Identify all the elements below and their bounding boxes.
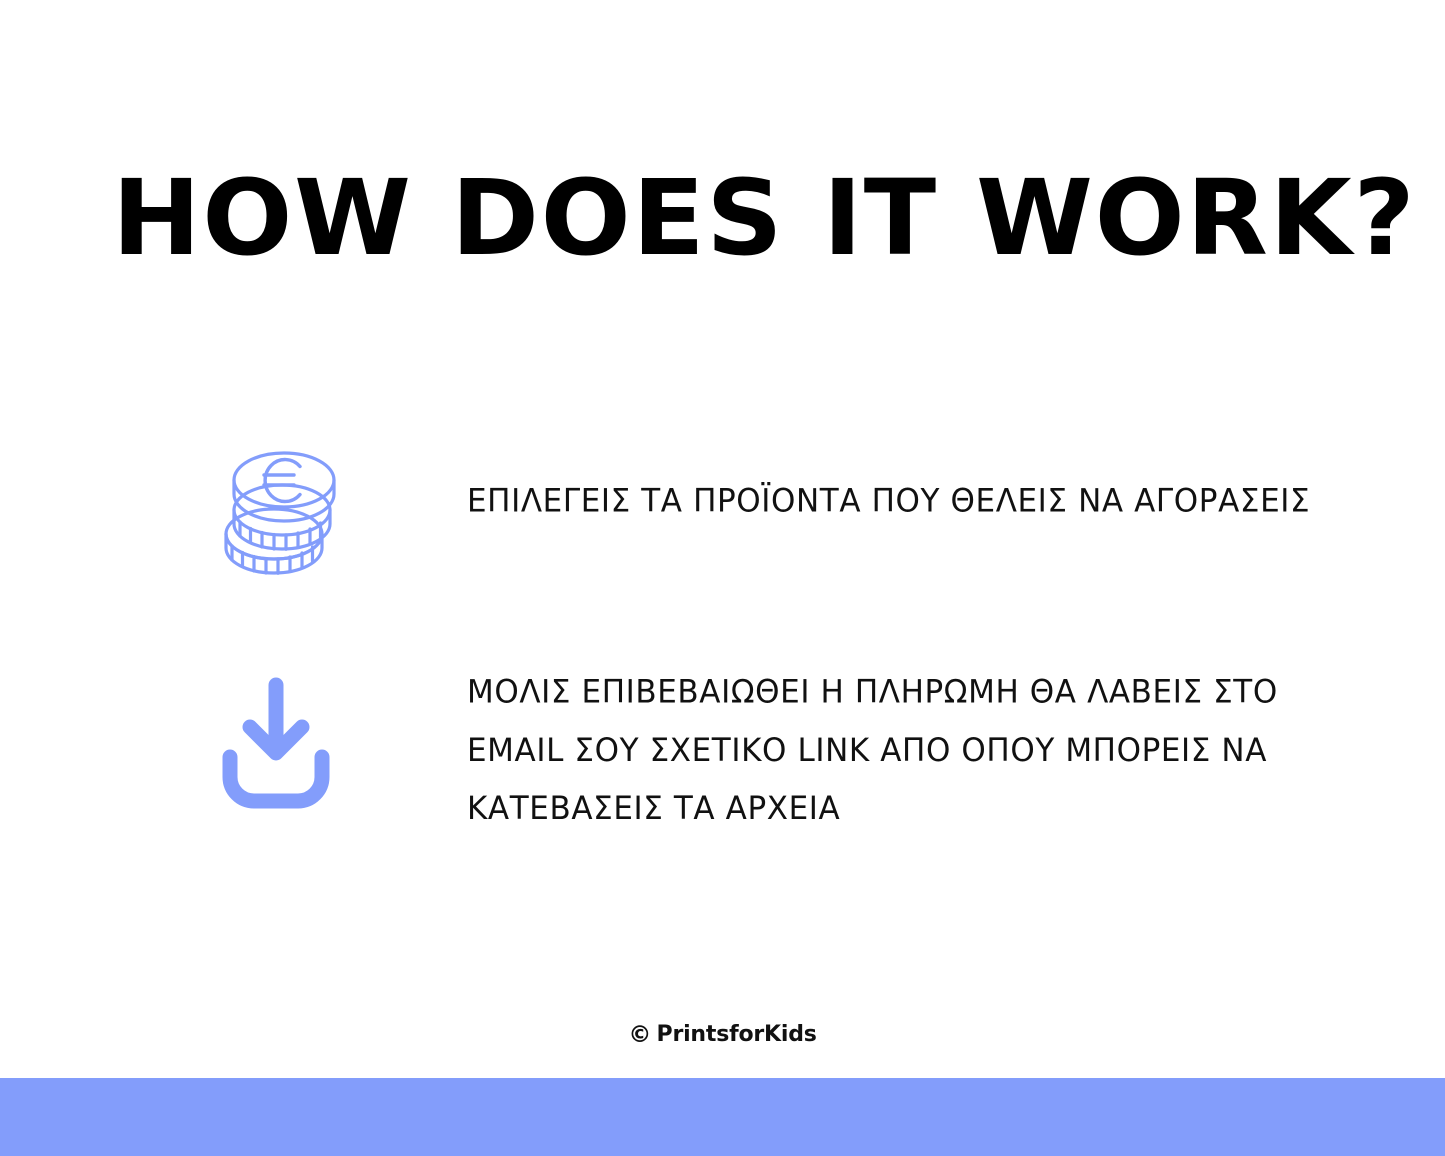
download-icon	[214, 665, 354, 825]
list-item-label: ΕΠΙΛΕΓΕΙΣ ΤΑ ΠΡΟΪΟΝΤΑ ΠΟΥ ΘΕΛΕΙΣ ΝΑ ΑΓΟΡ…	[467, 472, 1310, 530]
brand-name-second: forKids	[729, 1022, 817, 1047]
list-item: ΕΠΙΛΕΓΕΙΣ ΤΑ ΠΡΟΪΟΝΤΑ ΠΟΥ ΘΕΛΕΙΣ ΝΑ ΑΓΟΡ…	[214, 430, 1310, 590]
list-item: ΜΟΛΙΣ ΕΠΙΒΕΒΑΙΩΘΕΙ Η ΠΛΗΡΩΜΗ ΘΑ ΛΑΒΕΙΣ Σ…	[214, 665, 1278, 831]
list-item-label: ΜΟΛΙΣ ΕΠΙΒΕΒΑΙΩΘΕΙ Η ΠΛΗΡΩΜΗ ΘΑ ΛΑΒΕΙΣ Σ…	[467, 663, 1278, 838]
bottom-accent-band	[0, 1078, 1445, 1156]
slide-canvas: HOW DOES IT WORK?	[0, 0, 1445, 1156]
footer-brand: ©PrintsforKids	[0, 1022, 1445, 1048]
euro-coins-stack-icon	[214, 430, 354, 590]
brand-name-first: Prints	[657, 1022, 730, 1047]
page-title: HOW DOES IT WORK?	[112, 166, 1367, 270]
copyright-icon: ©	[628, 1022, 651, 1048]
